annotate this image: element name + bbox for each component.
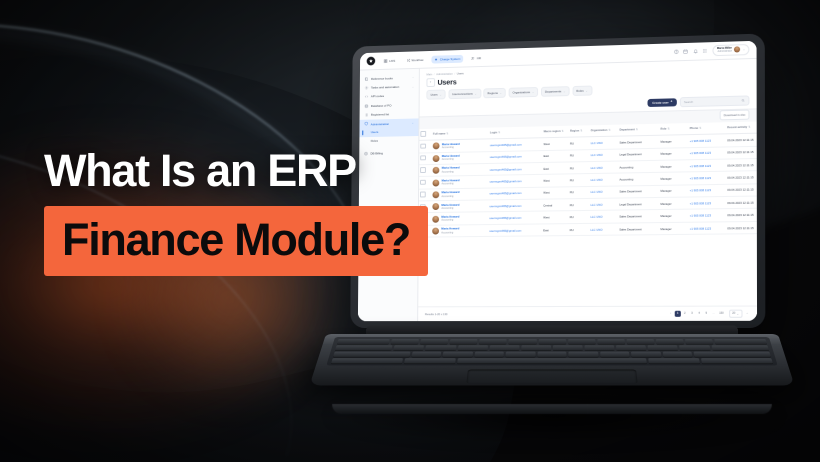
sidebar-label-tasks-automation: Tasks and automation [371,85,399,90]
shield-icon [364,122,368,126]
bell-icon-wrap[interactable] [693,49,698,54]
phone-link[interactable]: +1 905 008 1123 [690,164,711,168]
user-subtitle: Accounting [441,231,459,234]
key[interactable] [714,339,767,344]
user-lines: Maria HowardAccounting [441,203,459,210]
cell-full-name: Maria HowardAccounting [431,188,488,201]
organization-link[interactable]: LLC UNO [590,215,602,219]
cell-macro-region: West [542,211,569,224]
avatar [433,179,440,186]
key[interactable] [648,345,678,350]
sort-icon: ⇅ [699,127,701,130]
cell-phone: +1 905 008 1123 [688,184,726,197]
avatar [432,228,439,235]
keyboard-base [309,334,794,386]
cell-department: Sales Department [618,135,659,148]
nav-label-workflow: Workflow [411,58,423,62]
search-icon [742,99,746,103]
user-lines: Maria HowardAccounting [442,179,460,186]
th-label-organization: Organization [591,129,608,132]
key[interactable] [412,352,442,357]
cell-recent-activity: 09.04.2023 12:11:15 [726,146,757,159]
key[interactable] [333,352,410,357]
key[interactable] [569,352,598,357]
headline-highlight: Finance Module? [44,206,428,276]
cell-phone: +1 905 008 1123 [688,159,726,172]
phone-link[interactable]: +1 905 008 1123 [690,139,711,143]
cell-organization: LLC UNO [589,198,618,211]
nav-label-lms: LMS [389,58,395,62]
table-header-select[interactable] [419,129,431,141]
th-label-full-name: Full name [433,133,445,136]
avatar [432,215,439,222]
user-subtitle: Accounting [442,158,460,161]
cell-department: Sales Department [618,222,659,235]
apps-icon[interactable] [703,48,708,53]
th-label-department: Department [619,128,634,131]
key[interactable] [600,352,630,357]
table-header-department[interactable]: Department⇅ [618,124,659,137]
sort-icon: ⇅ [748,126,750,129]
phone-link[interactable]: +1 905 008 1123 [690,201,711,205]
sidebar-label-reference-books: Reference books [371,76,393,80]
breadcrumb-separator: / [434,73,435,76]
key[interactable] [679,345,710,350]
nav-label-hr: HR [477,56,481,60]
th-label-region: Region [570,130,579,133]
keyboard-front-edge [332,404,772,414]
cell-recent-activity: 09.04.2023 12:11:15 [726,171,757,184]
search-input[interactable]: Search [680,96,750,108]
keyboard-deck [326,337,777,365]
key[interactable] [391,339,419,344]
breadcrumb-administration[interactable]: Administration [436,72,452,75]
user-cell: Maria HowardAccounting [433,203,487,211]
sort-icon: ⇅ [446,133,448,136]
user-lines: Maria HowardAccounting [442,143,460,150]
cell-role: Manager [659,172,688,185]
select-all-checkbox[interactable] [421,131,426,136]
cell-macro-region: East [542,162,569,175]
sort-icon: ⇅ [562,130,564,133]
pagination-page-1[interactable]: 1 [675,311,680,316]
key[interactable] [568,339,596,344]
key[interactable] [655,339,683,344]
key[interactable] [597,339,625,344]
filter-chip-interconnections[interactable]: Interconnections ⌄ [448,89,481,99]
filter-chip-departments[interactable]: Departments ⌄ [541,87,570,97]
cell-login: usermgmt465@gmail.com [488,224,542,237]
pagination-ellipsis: ... [711,311,717,316]
filter-chip-organizations[interactable]: Organizations ⌄ [508,87,538,97]
key[interactable] [479,339,507,344]
keyboard-row [333,352,771,357]
user-role: Administrator [718,50,732,53]
cell-role: Manager [659,210,688,223]
organization-link[interactable]: LLC UNO [590,203,602,207]
database-icon [364,104,368,108]
chevron-down-icon: ⌄ [440,93,442,96]
user-lines: Maria HowardAccounting [442,167,460,174]
user-subtitle: Accounting [441,219,459,222]
sort-icon: ⇅ [636,128,638,131]
cell-full-name: Maria HowardAccounting [431,151,488,164]
key[interactable] [421,339,449,344]
user-cell: Maria HowardAccounting [433,166,487,174]
cell-macro-region: West [542,137,569,150]
cell-login: usermgmt465@gmail.com [488,187,542,200]
app-logo-icon[interactable] [367,57,376,66]
headline-line-1: What Is an ERP [44,148,428,193]
pagination-prev[interactable]: ‹ [668,311,673,316]
key[interactable] [626,339,654,344]
th-label-recent-activity: Recent activity [727,126,747,129]
back-button[interactable]: ‹ [426,78,434,87]
code-icon [364,95,368,99]
avatar [433,155,440,162]
filter-label-departments: Departments [545,90,561,94]
cell-role: Manager [659,147,688,160]
cell-role: Manager [659,135,688,148]
breadcrumb-main[interactable]: Main [427,73,433,76]
calendar-icon[interactable] [683,49,688,54]
user-cell: Maria HowardAccounting [432,215,486,223]
organization-link[interactable]: LLC UNO [591,141,603,145]
cell-organization: LLC UNO [589,186,618,199]
user-subtitle: Accounting [442,170,460,173]
th-label-role: Role [660,128,666,131]
sort-icon: ⇅ [580,130,582,133]
phone-link[interactable]: +1 905 008 1123 [690,189,711,193]
user-cell: Maria HowardAccounting [433,142,487,150]
cell-region: RU [569,137,590,150]
sidebar-sublabel-roles: Roles [371,139,378,143]
book-icon [365,77,369,81]
cell-region: RU [568,211,589,224]
cell-role: Manager [659,197,688,210]
key[interactable] [711,345,769,350]
cell-region: RU [568,199,589,212]
key[interactable] [331,358,403,363]
cell-full-name: Maria HowardAccounting [431,163,488,176]
per-page-select[interactable]: 20 ⌄ [729,309,743,318]
cell-full-name: Maria HowardAccounting [431,200,488,213]
chevron-down-icon: ⌄ [743,48,746,52]
users-table: Full name⇅ Login⇅ Macro region⇅ Region⇅ … [419,122,757,238]
user-cell: Maria HowardAccounting [432,227,486,234]
pagination-page-3[interactable]: 3 [689,311,695,316]
key[interactable] [521,345,551,350]
avatar [734,47,740,53]
cell-department: Sales Department [618,185,659,198]
filter-chip-roles[interactable]: Roles ⌄ [572,86,592,96]
cell-region: RU [568,174,589,187]
sort-icon: ⇅ [608,129,610,132]
filter-label-roles: Roles [576,89,583,93]
user-subtitle: Accounting [442,182,460,185]
cell-department: Accounting [618,173,659,186]
sidebar-label-administration: Administration [371,122,389,126]
user-lines: Maria HowardAccounting [441,191,459,198]
cell-full-name: Maria HowardAccounting [432,139,489,152]
chevron-down-icon: ⌄ [532,91,534,94]
user-text: Maria Miller Administrator [717,47,732,54]
cell-phone: +1 905 008 1123 [688,209,726,222]
cell-macro-region: East [542,223,569,236]
poster-canvas: What Is an ERP Finance Module? [0,0,820,462]
phone-link[interactable]: +1 905 008 1123 [690,176,711,180]
pagination-page-5[interactable]: 5 [704,311,710,316]
keyboard-row-space [331,358,773,363]
filter-label-interconnections: Interconnections [452,92,473,96]
organization-link[interactable]: LLC UNO [591,190,603,194]
key[interactable] [631,352,661,357]
main-content: Main / Administration / Users ‹ Users [418,59,757,321]
cell-phone: +1 905 008 1123 [688,134,726,147]
chevron-down-icon: ⌄ [737,311,739,315]
cell-region: RU [569,162,590,175]
users-table-wrapper: Full name⇅ Login⇅ Macro region⇅ Region⇅ … [418,122,757,306]
login-link[interactable]: usermgmt465@gmail.com [490,204,522,208]
sidebar-subitem-roles[interactable]: Roles [359,136,418,145]
cell-organization: LLC UNO [589,161,618,174]
per-page-value: 20 [732,312,735,315]
cell-recent-activity: 09.04.2023 12:11:15 [726,209,757,222]
avatar [433,167,440,174]
chevron-down-icon: ⌄ [500,92,502,95]
sort-icon: ⇅ [498,131,500,134]
key[interactable] [553,345,583,350]
table-header-organization[interactable]: Organization⇅ [589,125,618,137]
cell-department: Legal Department [618,148,659,161]
avatar [433,191,440,198]
th-label-phone: Phone [690,127,699,130]
cell-macro-region: West [542,187,569,200]
cell-login: usermgmt465@gmail.com [488,212,542,225]
cell-role: Manager [659,222,688,235]
headline-block: What Is an ERP Finance Module? [44,148,428,276]
login-link[interactable]: usermgmt465@gmail.com [490,191,522,195]
cell-phone: +1 905 008 1123 [688,172,726,185]
key[interactable] [616,345,646,350]
login-link[interactable]: usermgmt465@gmail.com [490,155,522,160]
cell-macro-region: Central [542,199,569,212]
nav-item-lms[interactable]: LMS [381,56,398,64]
chevron-down-icon: ⌄ [412,85,414,88]
notification-badge [697,48,699,50]
download-xlsx-button[interactable]: Download in xlsx [720,110,750,120]
list-icon [364,113,368,117]
key[interactable] [335,345,393,350]
key[interactable] [662,352,692,357]
page-title: Users [437,77,456,86]
cell-full-name: Maria HowardAccounting [431,212,488,225]
cell-phone: +1 905 008 1123 [688,222,726,235]
key[interactable] [394,345,425,350]
sort-icon: ⇅ [668,128,670,131]
pagination-page-last[interactable]: 130 [718,311,725,316]
filter-label-organizations: Organizations [513,90,530,94]
key[interactable] [337,339,390,344]
user-lines: Maria HowardAccounting [442,155,460,162]
organization-link[interactable]: LLC UNO [590,227,602,231]
filter-chip-users[interactable]: Users ⌄ [426,90,445,100]
cell-organization: LLC UNO [589,173,618,186]
sidebar-label-api-codes: API codes [371,94,384,98]
cell-region: RU [569,149,590,162]
pagination-page-4[interactable]: 4 [696,311,702,316]
chevron-down-icon: ⌄ [412,76,414,79]
table-header-recent-activity[interactable]: Recent activity⇅ [726,122,757,134]
login-link[interactable]: usermgmt465@gmail.com [489,216,521,220]
user-lines: Maria HowardAccounting [441,228,459,234]
key[interactable] [648,358,700,363]
sidebar-label-registered-list: Registered list [371,113,389,117]
nav-item-hr[interactable]: HR [468,54,484,62]
space-key[interactable] [457,358,647,363]
cell-organization: LLC UNO [589,136,618,149]
key[interactable] [701,358,773,363]
avatar [433,143,440,150]
organization-link[interactable]: LLC UNO [591,153,603,157]
toolbar-spacer [426,103,648,109]
key[interactable] [509,339,537,344]
filter-chip-regions[interactable]: Regions ⌄ [483,88,506,98]
trackpad[interactable] [466,370,637,384]
cell-login: usermgmt465@gmail.com [488,162,542,175]
cell-login: usermgmt465@gmail.com [488,150,542,163]
filter-label-users: Users [430,93,437,97]
nav-label-charge-system: Charge System [440,56,461,61]
table-header-region[interactable]: Region⇅ [569,125,590,137]
nav-item-workflow[interactable]: Workflow [403,55,427,63]
create-user-label: Create user [652,101,668,105]
pagination-page-2[interactable]: 2 [682,311,688,316]
pagination-controls: ‹ 1 2 3 4 5 ... 130 20 [668,309,750,318]
cell-region: RU [568,223,589,236]
login-link[interactable]: usermgmt465@gmail.com [490,143,522,148]
key[interactable] [694,352,771,357]
user-lines: Maria HowardAccounting [441,216,459,223]
login-link[interactable]: usermgmt465@gmail.com [489,228,521,232]
chevron-down-icon: ⌄ [475,92,477,95]
help-icon[interactable] [674,49,679,54]
phone-link[interactable]: +1 905 008 1123 [690,214,711,218]
sidebar-label-database-po: Database of PO [371,103,392,107]
cell-organization: LLC UNO [589,223,618,236]
search-placeholder: Search [684,99,740,104]
cell-phone: +1 905 008 1123 [688,147,726,160]
user-cell: Maria HowardAccounting [433,190,487,198]
download-xlsx-label: Download in xlsx [724,113,746,118]
cell-organization: LLC UNO [589,211,618,224]
key[interactable] [685,339,713,344]
people-icon [471,56,475,60]
avatar [433,203,440,210]
phone-link[interactable]: +1 905 008 1123 [690,226,711,230]
key[interactable] [474,352,504,357]
chevron-up-icon: ⌄ [412,122,414,125]
cell-department: Sales Department [618,210,659,223]
cell-login: usermgmt465@gmail.com [488,199,542,212]
plus-icon: + [670,101,672,104]
cell-login: usermgmt465@gmail.com [488,138,542,151]
table-body: Maria HowardAccountingusermgmt465@gmail.… [419,133,757,238]
cell-recent-activity: 09.04.2023 12:11:15 [726,183,757,196]
flow-icon [406,58,410,62]
table-header-role[interactable]: Role⇅ [659,123,688,135]
nav-item-charge-system[interactable]: Charge System [431,54,463,63]
key[interactable] [489,345,519,350]
cell-macro-region: East [542,150,569,163]
key[interactable] [585,345,615,350]
login-link[interactable]: usermgmt465@gmail.com [490,179,522,183]
th-label-login: Login [490,131,497,134]
keyboard-row [337,339,767,344]
sidebar-sublabel-users: Users [371,130,378,134]
cell-department: Accounting [618,160,659,173]
th-label-macro-region: Macro region [544,130,561,133]
chevron-down-icon: ⌄ [586,89,588,92]
chevron-down-icon: ⌄ [563,90,565,93]
cell-role: Manager [659,160,688,173]
cell-login: usermgmt465@gmail.com [488,175,542,188]
topbar-actions: Maria Miller Administrator ⌄ [674,44,750,57]
table-header-macro-region[interactable]: Macro region⇅ [542,126,569,138]
organization-link[interactable]: LLC UNO [591,165,603,169]
cell-full-name: Maria HowardAccounting [431,224,488,237]
pagination: Results 1-20 x 130 ‹ 1 2 3 4 5 ... 130 [418,305,757,321]
cell-recent-activity: 09.04.2023 12:11:15 [726,133,757,146]
app-nav: LMS Workflow Charge System [381,54,484,65]
phone-link[interactable]: +1 905 008 1123 [690,151,711,155]
cell-organization: LLC UNO [589,149,618,162]
user-subtitle: Accounting [442,146,460,149]
table-header-phone[interactable]: Phone⇅ [688,122,726,135]
cell-region: RU [568,186,589,199]
cell-full-name: Maria HowardAccounting [431,176,488,189]
key[interactable] [506,352,535,357]
pagination-next[interactable]: → [744,311,750,317]
breadcrumb-separator: / [454,72,455,75]
cell-recent-activity: 09.04.2023 12:11:15 [726,158,757,171]
organization-link[interactable]: LLC UNO [591,178,603,182]
key[interactable] [426,345,456,350]
user-subtitle: Accounting [441,195,459,198]
cell-macro-region: West [542,174,569,187]
user-cell: Maria HowardAccounting [433,178,487,186]
pagination-info: Results 1-20 x 130 [425,312,448,316]
create-user-button[interactable]: Create user + [648,98,677,107]
key[interactable] [404,358,456,363]
user-cell: Maria HowardAccounting [433,154,487,162]
key[interactable] [538,339,565,344]
filter-label-regions: Regions [487,91,497,95]
user-subtitle: Accounting [441,207,459,210]
gear-icon [365,86,369,90]
user-menu[interactable]: Maria Miller Administrator ⌄ [712,44,749,56]
keyboard-row [335,345,769,350]
key[interactable] [457,345,487,350]
cell-phone: +1 905 008 1123 [688,197,726,210]
breadcrumb-users: Users [457,72,464,75]
login-link[interactable]: usermgmt465@gmail.com [490,167,522,172]
key[interactable] [537,352,566,357]
bolt-icon [434,57,438,61]
key[interactable] [443,352,473,357]
cell-recent-activity: 09.04.2023 12:11:15 [726,196,757,209]
key[interactable] [450,339,478,344]
